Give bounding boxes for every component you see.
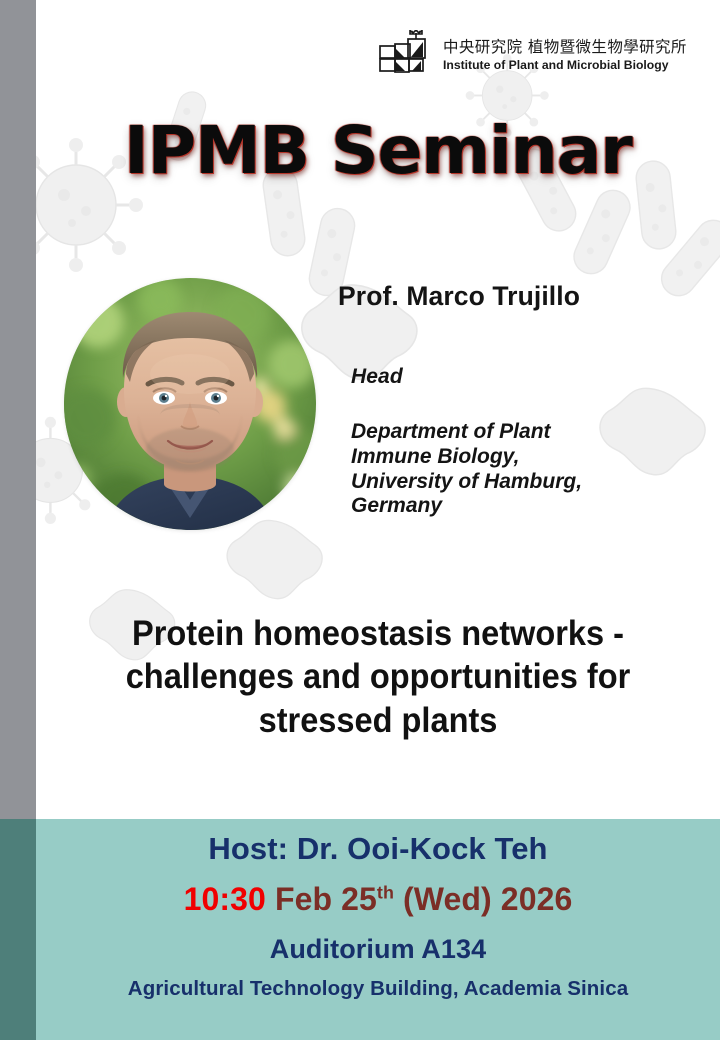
affiliation-line: Immune Biology, (351, 445, 691, 470)
speaker-affiliation: Department of Plant Immune Biology, Univ… (351, 420, 691, 519)
speaker-role: Head (351, 365, 403, 389)
host-line: Host: Dr. Ooi-Kock Teh (36, 831, 720, 867)
left-accent-bar-gray (0, 0, 36, 819)
venue-room: Auditorium A134 (36, 934, 720, 965)
event-date-main: Feb 25 (275, 881, 377, 917)
event-date-ordinal: th (377, 882, 394, 902)
datetime-line: 10:30 Feb 25th (Wed) 2026 (36, 881, 720, 918)
talk-title: Protein homeostasis networks - challenge… (60, 612, 696, 742)
left-accent-bar-teal (0, 819, 36, 1040)
seminar-poster: 中央研究院 植物暨微生物學研究所 Institute of Plant and … (0, 0, 720, 1040)
event-date-rest: (Wed) 2026 (403, 881, 572, 917)
speaker-portrait (64, 278, 316, 530)
institute-name-en: Institute of Plant and Microbial Biology (443, 58, 687, 74)
affiliation-line: Department of Plant (351, 420, 691, 445)
seminar-banner-title: IPMB Seminar (36, 118, 720, 184)
institute-name-zh: 中央研究院 植物暨微生物學研究所 (443, 38, 687, 57)
affiliation-line: University of Hamburg, (351, 470, 691, 495)
portrait-image (64, 278, 316, 530)
institute-header: 中央研究院 植物暨微生物學研究所 Institute of Plant and … (378, 26, 693, 86)
event-time: 10:30 (184, 881, 266, 917)
event-details-footer: Host: Dr. Ooi-Kock Teh 10:30 Feb 25th (W… (36, 819, 720, 1040)
affiliation-line: Germany (351, 494, 691, 519)
venue-address: Agricultural Technology Building, Academ… (36, 977, 720, 1001)
ipmb-logo-icon (378, 30, 434, 82)
speaker-name: Prof. Marco Trujillo (338, 281, 580, 312)
